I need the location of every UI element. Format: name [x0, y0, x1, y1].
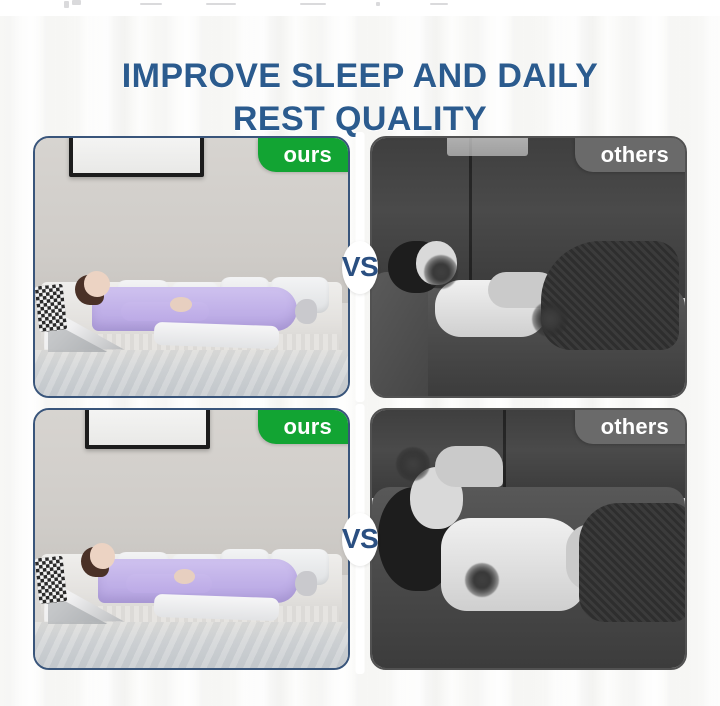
- comparison-row-1: ours: [33, 136, 687, 398]
- comparison-row-2: ours: [33, 408, 687, 670]
- person-arm: [126, 574, 212, 593]
- sheet-fold: [154, 322, 280, 350]
- badge-ours: ours: [258, 138, 350, 172]
- scene-ours-1: [35, 138, 348, 396]
- panel-others-2[interactable]: others: [370, 408, 687, 670]
- checkered-pillow: [35, 284, 67, 333]
- knit-blanket: [541, 241, 679, 349]
- panel-ours-1[interactable]: ours: [33, 136, 350, 398]
- person-foot: [295, 571, 316, 596]
- wall-art-frame: [85, 410, 210, 449]
- sheet-fold: [154, 594, 280, 622]
- vs-divider-2: VS: [355, 408, 365, 670]
- top-cropped-text-artifacts: [0, 0, 720, 11]
- scene-others-1: [372, 138, 685, 396]
- person-uncomfortable-1: [372, 138, 685, 396]
- panel-others-1[interactable]: others: [370, 136, 687, 398]
- vs-badge: VS: [342, 513, 378, 566]
- badge-ours: ours: [258, 410, 350, 444]
- person-uncomfortable-2: [372, 410, 685, 668]
- panel-ours-2[interactable]: ours: [33, 408, 350, 670]
- knit-blanket: [579, 503, 685, 622]
- checkered-pillow: [35, 556, 67, 605]
- person-raised-arm: [435, 446, 504, 487]
- person-foot: [295, 299, 317, 324]
- person-face: [84, 271, 110, 297]
- person-torso: [441, 518, 585, 611]
- floor-rug: [35, 622, 348, 668]
- wall-art-frame: [69, 138, 204, 177]
- comparison-grid: ours: [33, 136, 687, 681]
- person-hand: [170, 297, 192, 312]
- vs-badge: VS: [342, 241, 378, 294]
- scene-others-2: [372, 410, 685, 668]
- badge-others: others: [575, 410, 687, 444]
- person-face: [90, 543, 116, 569]
- person-head: [75, 270, 112, 305]
- wall-art-image: [123, 410, 173, 429]
- page-title-line-1: IMPROVE SLEEP AND DAILY: [0, 55, 720, 98]
- scene-ours-2: [35, 410, 348, 668]
- person-arm: [121, 302, 209, 321]
- person-face: [416, 241, 457, 285]
- badge-others: others: [575, 138, 687, 172]
- floor-rug: [35, 350, 348, 396]
- person-head: [81, 542, 117, 577]
- wall-art-image: [110, 138, 164, 157]
- vs-divider-1: VS: [355, 136, 365, 398]
- promo-stage: IMPROVE SLEEP AND DAILY REST QUALITY: [0, 0, 720, 706]
- page-title: IMPROVE SLEEP AND DAILY REST QUALITY: [0, 55, 720, 141]
